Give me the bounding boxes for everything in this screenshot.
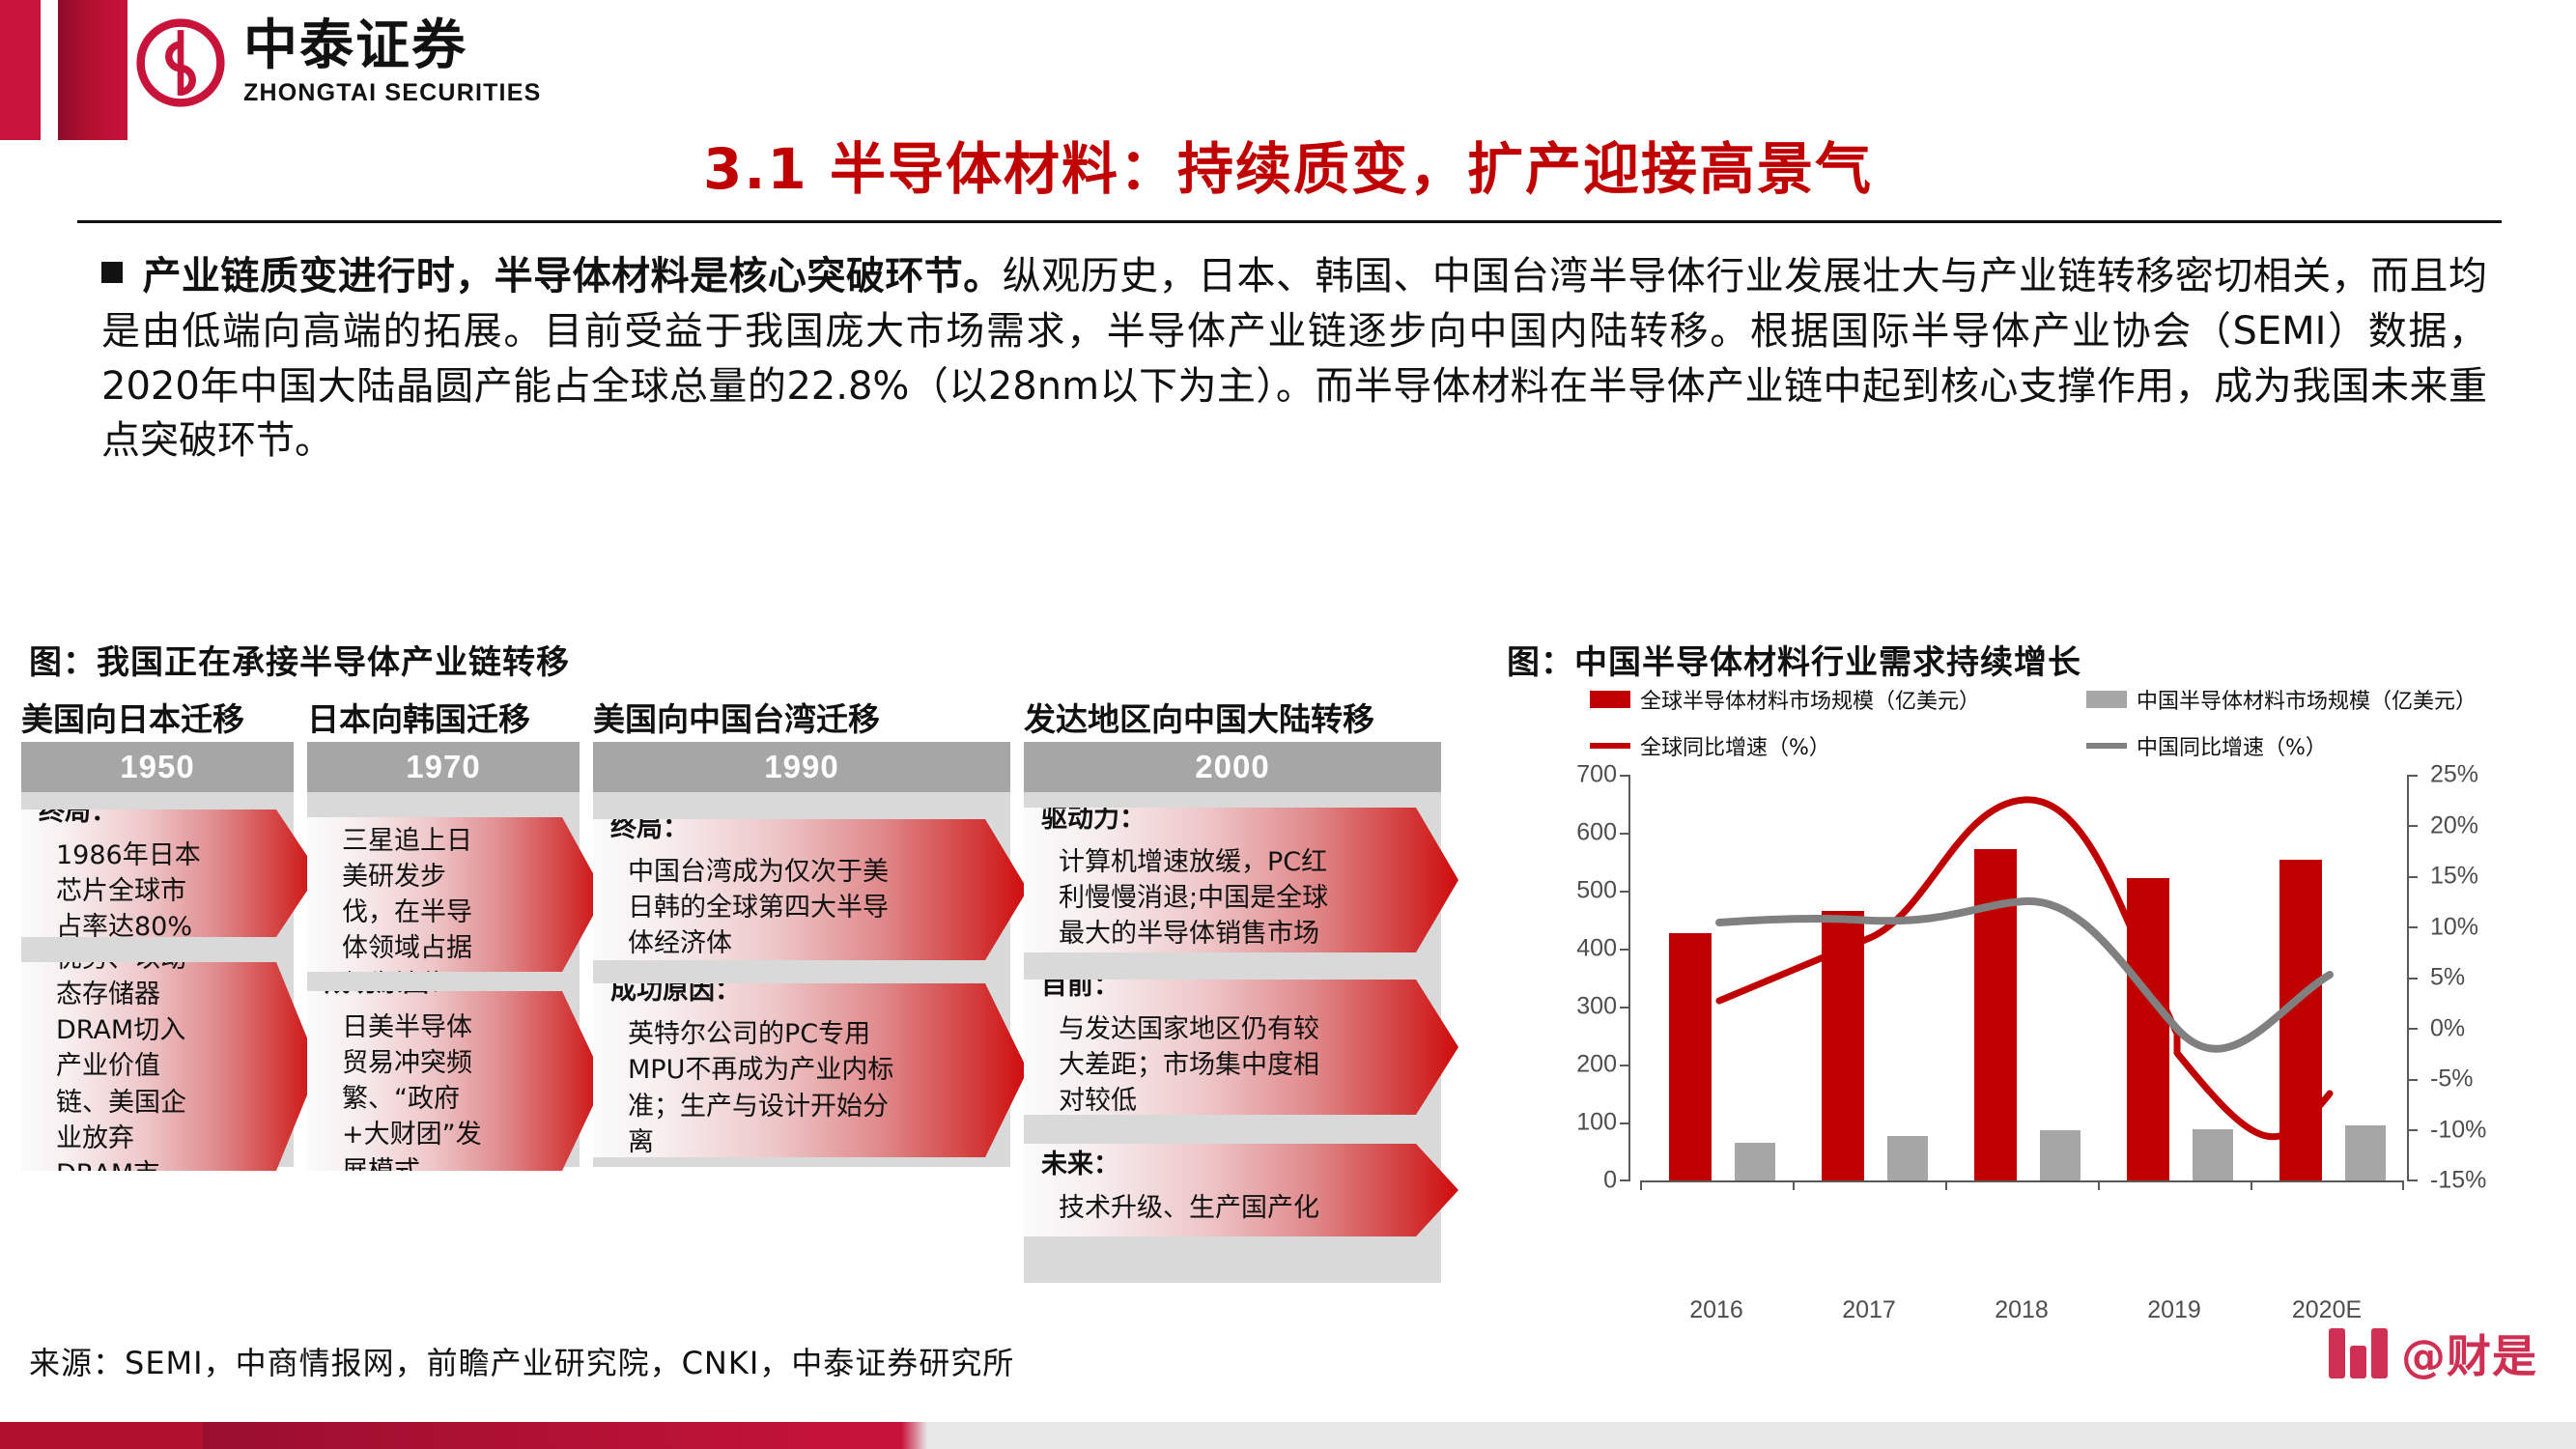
y2-tick-neg15: -15% <box>2430 1167 2486 1195</box>
watermark: @财是 <box>2329 1321 2537 1385</box>
semiconductor-materials-chart: 全球半导体材料市场规模（亿美元） 中国半导体材料市场规模（亿美元） 全球同比增速… <box>1507 676 2555 1304</box>
y-tickmark-700 <box>1620 775 1630 777</box>
chart-line-layer <box>1640 775 2403 1180</box>
arrow-label-4-1: 驱动力： <box>1041 804 1146 834</box>
arrow-label-4-3: 未来： <box>1041 1150 1119 1179</box>
legend-swatch-bar-red <box>1590 691 1630 708</box>
line-china-growth <box>1719 901 2330 1049</box>
chart-y-axis-right: 25% 20% 15% 10% 5% 0% -5% -10% -15% <box>2407 775 2523 1180</box>
legend-swatch-bar-gray <box>2086 691 2127 708</box>
y2-tick-neg10: -10% <box>2430 1116 2486 1144</box>
legend-label-china-bar: 中国半导体材料市场规模（亿美元） <box>2137 684 2477 715</box>
x-tickmark-5 <box>2402 1180 2404 1190</box>
y-tickmark-0 <box>1620 1179 1630 1181</box>
brand-logo: 中泰证券 ZHONGTAI SECURITIES <box>135 17 541 108</box>
y2-tick-25: 25% <box>2430 761 2478 789</box>
column-head-4: 发达地区向中国大陆转移 <box>1024 694 1374 740</box>
y2-tick-0: 0% <box>2430 1014 2465 1042</box>
arrow-box-2-1: 终局：三星追上日美研发步伐，在半导体领域占据领先地位。 <box>307 817 605 972</box>
arrow-text-4-3: 技术升级、生产国产化 <box>1041 1182 1377 1234</box>
y2-tickmark-15 <box>2407 876 2418 878</box>
x-label-2019: 2019 <box>2147 1296 2201 1324</box>
x-label-2017: 2017 <box>1842 1296 1896 1324</box>
legend-item-china-line[interactable]: 中国同比增速（%） <box>2086 730 2327 761</box>
year-cell-1: 1950 <box>21 742 294 792</box>
chart-plot-area: 2016 2017 2018 2019 2020E <box>1640 775 2403 1180</box>
legend-item-china-bar[interactable]: 中国半导体材料市场规模（亿美元） <box>2086 684 2477 715</box>
column-heads: 美国向日本迁移 日本向韩国迁移 美国向中国台湾迁移 发达地区向中国大陆转移 <box>21 694 1441 740</box>
year-cell-3: 1990 <box>593 742 1010 792</box>
zhongtai-logo-icon <box>135 17 226 108</box>
x-axis-spine <box>1640 1180 2403 1182</box>
y-tickmark-600 <box>1620 833 1630 835</box>
header-stripe-gradient <box>58 0 127 140</box>
x-label-2018: 2018 <box>1995 1296 2049 1324</box>
title-divider <box>77 220 2502 223</box>
year-cell-2: 1970 <box>307 742 580 792</box>
y2-tickmark-neg10 <box>2407 1129 2418 1131</box>
watermark-text: @财是 <box>2401 1321 2537 1385</box>
y2-tick-10: 10% <box>2430 913 2478 941</box>
legend-item-global-line[interactable]: 全球同比增速（%） <box>1590 730 1830 761</box>
arrow-box-2-2: 成功原因：日美半导体贸易冲突频繁、“政府+大财团”发展模式 <box>307 991 605 1171</box>
y-tick-500: 500 <box>1576 877 1617 905</box>
y2-tickmark-20 <box>2407 825 2418 827</box>
arrow-text-3-2: 英特尔公司的PC专用MPU不再成为产业内标准；生产与设计开始分离 <box>610 1009 970 1168</box>
paragraph-lead: 产业链质变进行时，半导体材料是核心突破环节。 <box>142 254 1003 298</box>
y2-tick-20: 20% <box>2430 811 2478 839</box>
arrow-text-4-2: 与发达国家地区仍有较大差距；市场集中度相对较低 <box>1041 1004 1401 1127</box>
y-tickmark-500 <box>1620 891 1630 893</box>
brand-name-en: ZHONGTAI SECURITIES <box>243 79 541 107</box>
footer-bar-accent <box>0 1422 203 1449</box>
source-note: 来源：SEMI，中商情报网，前瞻产业研究院，CNKI，中泰证券研究所 <box>29 1339 1014 1383</box>
chart-y-axis-left: 700 600 500 400 300 200 100 0 <box>1514 775 1630 1180</box>
x-tickmark-2 <box>1945 1180 1947 1190</box>
arrow-box-3-2: 成功原因：英特尔公司的PC专用MPU不再成为产业内标准；生产与设计开始分离 <box>593 983 1028 1157</box>
toutiao-logo-icon <box>2329 1328 2388 1378</box>
page-title: 3.1 半导体材料：持续质变，扩产迎接高景气 <box>0 124 2576 205</box>
year-cell-4: 2000 <box>1024 742 1441 792</box>
y-tickmark-200 <box>1620 1065 1630 1066</box>
legend-label-china-line: 中国同比增速（%） <box>2137 730 2327 761</box>
industry-transfer-diagram: 美国向日本迁移 日本向韩国迁移 美国向中国台湾迁移 发达地区向中国大陆转移 19… <box>21 694 1441 1293</box>
x-tickmark-0 <box>1640 1180 1642 1190</box>
arrow-text-3-1: 中国台湾成为仅次于美日韩的全球第四大半导体经济体 <box>610 846 970 970</box>
arrow-box-1-2: 成功原因：劳动力成本优势、以动态存储器DRAM切入产业价值链、美国企业放弃DRA… <box>21 962 319 1171</box>
arrow-box-3-1: 终局：中国台湾成为仅次于美日韩的全球第四大半导体经济体 <box>593 819 1028 960</box>
arrow-text-4-1: 计算机增速放缓，PC红利慢慢消退;中国是全球最大的半导体销售市场 <box>1041 837 1401 960</box>
line-global-growth <box>1719 800 2330 1137</box>
y-axis-left-spine <box>1628 775 1630 1180</box>
y2-tickmark-10 <box>2407 926 2418 928</box>
header-bar: 中泰证券 ZHONGTAI SECURITIES <box>0 0 2576 140</box>
y2-tickmark-5 <box>2407 978 2418 980</box>
y-tick-0: 0 <box>1603 1167 1617 1195</box>
y2-tickmark-25 <box>2407 775 2418 777</box>
arrow-text-2-2: 日美半导体贸易冲突频繁、“政府+大财团”发展模式 <box>325 1002 547 1197</box>
column-head-2: 日本向韩国迁移 <box>307 694 530 740</box>
body-paragraph: 产业链质变进行时，半导体材料是核心突破环节。纵观历史，日本、韩国、中国台湾半导体… <box>101 249 2487 469</box>
arrow-box-4-1: 驱动力：计算机增速放缓，PC红利慢慢消退;中国是全球最大的半导体销售市场 <box>1024 808 1458 952</box>
y-tick-100: 100 <box>1576 1109 1617 1137</box>
y2-tickmark-neg5 <box>2407 1079 2418 1081</box>
y2-tickmark-neg15 <box>2407 1179 2418 1181</box>
year-row: 1950 1970 1990 2000 <box>21 742 1441 792</box>
bullet-square-icon <box>101 262 123 283</box>
y-tick-400: 400 <box>1576 935 1617 963</box>
x-tickmark-3 <box>2098 1180 2100 1190</box>
legend-swatch-line-red <box>1590 743 1630 749</box>
y-tickmark-400 <box>1620 949 1630 951</box>
arrow-box-1-1: 终局：1986年日本芯片全球市占率达80% <box>21 810 319 937</box>
y-tick-700: 700 <box>1576 761 1617 789</box>
chart-legend: 全球半导体材料市场规模（亿美元） 中国半导体材料市场规模（亿美元） 全球同比增速… <box>1526 684 2550 773</box>
y2-tick-5: 5% <box>2430 964 2465 992</box>
legend-swatch-line-gray <box>2086 743 2127 749</box>
header-stripe-left <box>0 0 41 140</box>
arrow-text-1-1: 1986年日本芯片全球市占率达80% <box>39 830 261 953</box>
y-tick-600: 600 <box>1576 819 1617 847</box>
x-label-2020e: 2020E <box>2292 1296 2362 1324</box>
y2-tick-15: 15% <box>2430 863 2478 891</box>
arrow-box-4-2: 目前：与发达国家地区仍有较大差距；市场集中度相对较低 <box>1024 980 1458 1115</box>
footer-bar <box>0 1422 2576 1449</box>
legend-item-global-bar[interactable]: 全球半导体材料市场规模（亿美元） <box>1590 684 1980 715</box>
column-head-3: 美国向中国台湾迁移 <box>593 694 880 740</box>
arrow-box-4-3: 未来：技术升级、生产国产化 <box>1024 1144 1458 1236</box>
y2-tick-neg5: -5% <box>2430 1065 2473 1094</box>
x-tickmark-1 <box>1793 1180 1795 1190</box>
header-stripe-gap <box>41 0 58 140</box>
x-tickmark-4 <box>2250 1180 2252 1190</box>
legend-label-global-bar: 全球半导体材料市场规模（亿美元） <box>1640 684 1980 715</box>
y-tickmark-100 <box>1620 1122 1630 1124</box>
left-figure-caption: 图：我国正在承接半导体产业链转移 <box>29 636 570 683</box>
y2-tickmark-0 <box>2407 1028 2418 1030</box>
y-tick-200: 200 <box>1576 1051 1617 1079</box>
legend-label-global-line: 全球同比增速（%） <box>1640 730 1830 761</box>
y-tickmark-300 <box>1620 1007 1630 1009</box>
y-tick-300: 300 <box>1576 993 1617 1021</box>
brand-name-cn: 中泰证券 <box>243 18 541 75</box>
x-label-2016: 2016 <box>1689 1296 1743 1324</box>
column-head-1: 美国向日本迁移 <box>21 694 244 740</box>
